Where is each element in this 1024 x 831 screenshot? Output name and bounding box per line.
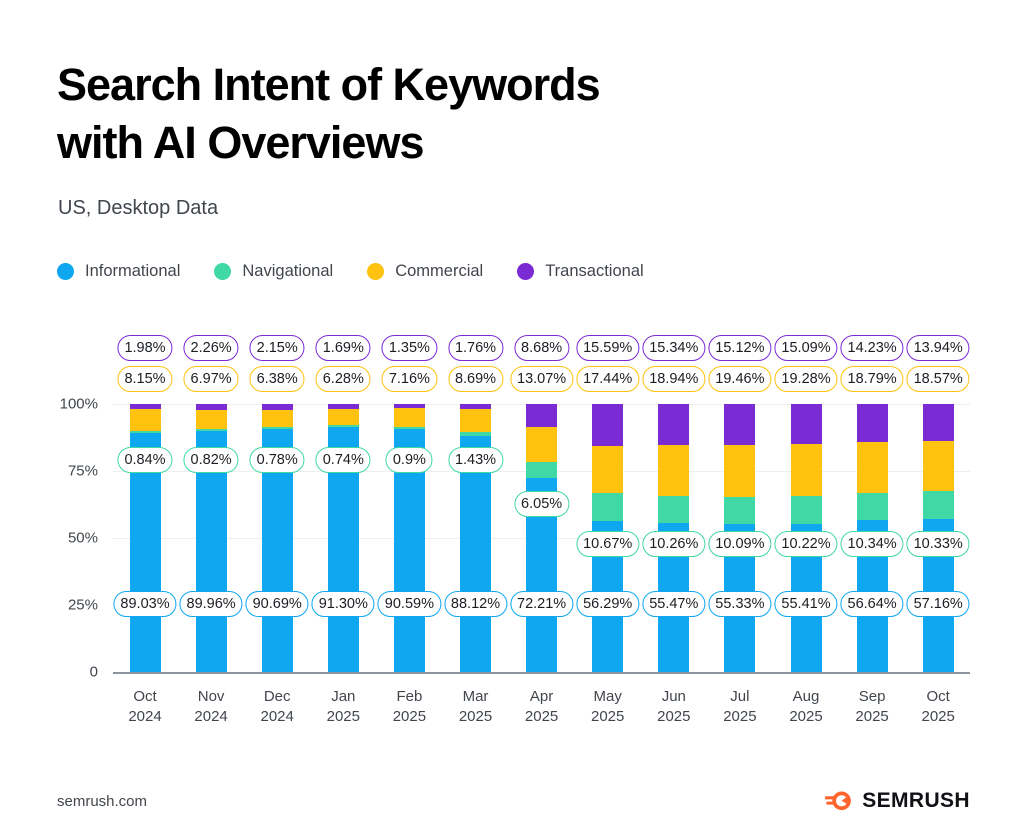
value-pill-informational: 90.59% <box>378 591 441 617</box>
bar-segment-navigational[interactable] <box>262 427 293 429</box>
value-pill-navigational: 0.82% <box>184 447 239 473</box>
value-pill-transactional: 8.68% <box>514 335 569 361</box>
bar-segment-transactional[interactable] <box>592 404 623 446</box>
value-pill-commercial: 8.69% <box>448 366 503 392</box>
value-pill-navigational: 0.78% <box>250 447 305 473</box>
value-pill-transactional: 1.98% <box>117 335 172 361</box>
value-pill-navigational: 10.26% <box>642 531 705 557</box>
y-axis-tick-label: 75% <box>32 463 98 480</box>
value-pill-commercial: 6.38% <box>250 366 305 392</box>
value-pill-commercial: 19.46% <box>708 366 771 392</box>
footer-url[interactable]: semrush.com <box>57 793 147 810</box>
bar-segment-navigational[interactable] <box>196 429 227 431</box>
chart-plot-area: 025%50%75%100%Oct 2024Nov 2024Dec 2024Ja… <box>0 0 1024 831</box>
bar-segment-navigational[interactable] <box>923 491 954 519</box>
bar-segment-transactional[interactable] <box>130 404 161 409</box>
value-pill-transactional: 1.35% <box>382 335 437 361</box>
semrush-comet-icon <box>825 789 853 813</box>
bar-column[interactable] <box>262 404 293 672</box>
y-axis-tick-label: 50% <box>32 530 98 547</box>
value-pill-navigational: 10.34% <box>841 531 904 557</box>
x-axis-line <box>113 672 970 674</box>
value-pill-navigational: 10.09% <box>708 531 771 557</box>
value-pill-commercial: 18.94% <box>642 366 705 392</box>
bar-segment-commercial[interactable] <box>658 445 689 496</box>
bar-segment-commercial[interactable] <box>196 410 227 429</box>
value-pill-commercial: 13.07% <box>510 366 573 392</box>
bar-segment-navigational[interactable] <box>460 432 491 436</box>
bar-segment-commercial[interactable] <box>460 409 491 432</box>
value-pill-navigational: 10.22% <box>774 531 837 557</box>
value-pill-navigational: 10.67% <box>576 531 639 557</box>
value-pill-informational: 56.64% <box>841 591 904 617</box>
bar-segment-commercial[interactable] <box>328 409 359 426</box>
value-pill-commercial: 17.44% <box>576 366 639 392</box>
value-pill-transactional: 15.12% <box>708 335 771 361</box>
bar-column[interactable] <box>460 404 491 672</box>
value-pill-navigational: 6.05% <box>514 491 569 517</box>
bar-segment-commercial[interactable] <box>592 446 623 493</box>
value-pill-informational: 90.69% <box>246 591 309 617</box>
bar-segment-transactional[interactable] <box>791 404 822 444</box>
bar-segment-commercial[interactable] <box>923 441 954 491</box>
value-pill-informational: 57.16% <box>907 591 970 617</box>
bar-segment-navigational[interactable] <box>328 425 359 427</box>
y-axis-tick-label: 25% <box>32 597 98 614</box>
value-pill-transactional: 14.23% <box>841 335 904 361</box>
value-pill-navigational: 0.9% <box>386 447 433 473</box>
brand-logo: SEMRUSH <box>825 789 970 813</box>
chart-page: Search Intent of Keywords with AI Overvi… <box>0 0 1024 831</box>
value-pill-informational: 55.41% <box>774 591 837 617</box>
value-pill-informational: 88.12% <box>444 591 507 617</box>
bar-segment-commercial[interactable] <box>394 408 425 427</box>
value-pill-informational: 89.96% <box>180 591 243 617</box>
value-pill-commercial: 8.15% <box>117 366 172 392</box>
value-pill-commercial: 19.28% <box>774 366 837 392</box>
value-pill-transactional: 2.15% <box>250 335 305 361</box>
bar-segment-transactional[interactable] <box>394 404 425 408</box>
bar-segment-transactional[interactable] <box>460 404 491 409</box>
value-pill-informational: 56.29% <box>576 591 639 617</box>
value-pill-transactional: 15.34% <box>642 335 705 361</box>
value-pill-informational: 89.03% <box>113 591 176 617</box>
bar-segment-transactional[interactable] <box>658 404 689 445</box>
bar-segment-commercial[interactable] <box>724 445 755 497</box>
value-pill-navigational: 0.74% <box>316 447 371 473</box>
bar-segment-navigational[interactable] <box>130 431 161 433</box>
y-axis-tick-label: 100% <box>32 396 98 413</box>
bar-segment-navigational[interactable] <box>592 493 623 522</box>
value-pill-transactional: 15.59% <box>576 335 639 361</box>
bar-segment-navigational[interactable] <box>658 496 689 523</box>
bar-segment-transactional[interactable] <box>724 404 755 445</box>
bar-segment-navigational[interactable] <box>857 493 888 521</box>
bar-segment-commercial[interactable] <box>791 444 822 496</box>
value-pill-commercial: 18.79% <box>841 366 904 392</box>
value-pill-informational: 91.30% <box>312 591 375 617</box>
bar-segment-commercial[interactable] <box>130 409 161 431</box>
bar-column[interactable] <box>130 404 161 672</box>
value-pill-informational: 72.21% <box>510 591 573 617</box>
value-pill-transactional: 1.69% <box>316 335 371 361</box>
value-pill-transactional: 15.09% <box>774 335 837 361</box>
bar-column[interactable] <box>526 404 557 672</box>
bar-segment-transactional[interactable] <box>857 404 888 442</box>
value-pill-commercial: 6.97% <box>184 366 239 392</box>
bar-segment-commercial[interactable] <box>857 442 888 492</box>
bar-segment-navigational[interactable] <box>724 497 755 524</box>
value-pill-informational: 55.33% <box>708 591 771 617</box>
value-pill-navigational: 0.84% <box>117 447 172 473</box>
y-axis-tick-label: 0 <box>32 664 98 681</box>
bar-segment-navigational[interactable] <box>394 427 425 429</box>
bar-segment-commercial[interactable] <box>262 410 293 427</box>
value-pill-commercial: 18.57% <box>907 366 970 392</box>
value-pill-informational: 55.47% <box>642 591 705 617</box>
x-axis-label: Oct 2025 <box>898 687 978 727</box>
bar-segment-transactional[interactable] <box>328 404 359 409</box>
value-pill-navigational: 1.43% <box>448 447 503 473</box>
bar-segment-transactional[interactable] <box>923 404 954 441</box>
value-pill-transactional: 2.26% <box>184 335 239 361</box>
bar-column[interactable] <box>328 404 359 672</box>
bar-column[interactable] <box>196 404 227 672</box>
value-pill-transactional: 1.76% <box>448 335 503 361</box>
value-pill-navigational: 10.33% <box>907 531 970 557</box>
value-pill-commercial: 7.16% <box>382 366 437 392</box>
bar-segment-navigational[interactable] <box>526 462 557 478</box>
bar-segment-navigational[interactable] <box>791 496 822 523</box>
bar-segment-commercial[interactable] <box>526 427 557 462</box>
bar-segment-transactional[interactable] <box>262 404 293 410</box>
bar-segment-transactional[interactable] <box>196 404 227 410</box>
value-pill-transactional: 13.94% <box>907 335 970 361</box>
bar-column[interactable] <box>394 404 425 672</box>
brand-name: SEMRUSH <box>862 789 970 813</box>
value-pill-commercial: 6.28% <box>316 366 371 392</box>
bar-segment-transactional[interactable] <box>526 404 557 427</box>
